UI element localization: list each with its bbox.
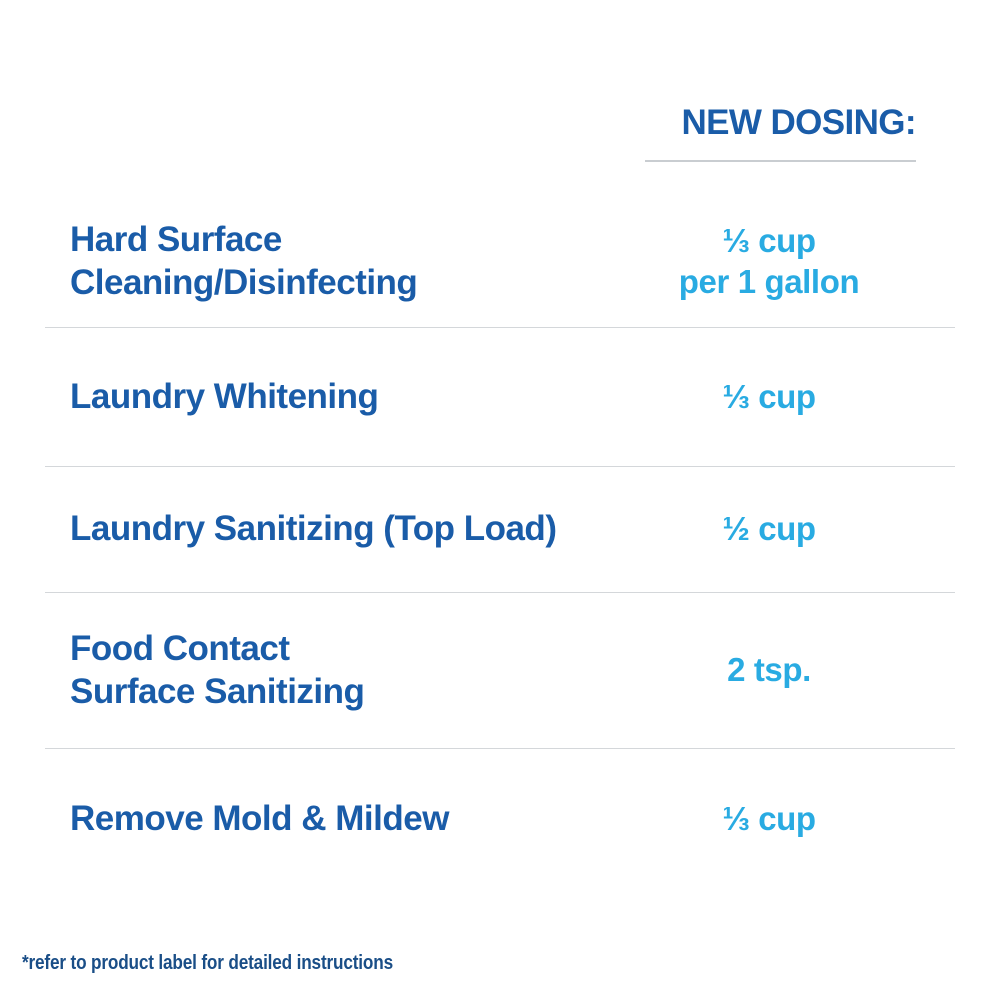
row-dose-line: per 1 gallon bbox=[620, 262, 918, 303]
row-label: Food Contact Surface Sanitizing bbox=[0, 628, 620, 713]
row-dose: ½ cup bbox=[620, 509, 1000, 550]
row-dose-line: ½ cup bbox=[620, 509, 918, 550]
row-dose: ⅓ cup bbox=[620, 377, 1000, 418]
table-row: Hard Surface Cleaning/Disinfecting ⅓ cup… bbox=[0, 196, 1000, 327]
table-row: Laundry Whitening ⅓ cup bbox=[0, 328, 1000, 466]
row-label-line: Laundry Sanitizing (Top Load) bbox=[70, 508, 620, 551]
table-row: Remove Mold & Mildew ⅓ cup bbox=[0, 749, 1000, 889]
row-dose-line: ⅓ cup bbox=[620, 377, 918, 418]
dosing-table: Hard Surface Cleaning/Disinfecting ⅓ cup… bbox=[0, 196, 1000, 889]
footnote: *refer to product label for detailed ins… bbox=[22, 952, 393, 975]
row-label-line: Surface Sanitizing bbox=[70, 671, 620, 714]
row-dose-line: 2 tsp. bbox=[620, 650, 918, 691]
row-label-line: Cleaning/Disinfecting bbox=[70, 262, 620, 305]
row-label-line: Food Contact bbox=[70, 628, 620, 671]
dosing-header: NEW DOSING: bbox=[560, 104, 916, 162]
dosing-chart: NEW DOSING: Hard Surface Cleaning/Disinf… bbox=[0, 0, 1000, 1000]
row-label: Remove Mold & Mildew bbox=[0, 798, 620, 841]
page-title: NEW DOSING: bbox=[560, 104, 916, 142]
table-row: Laundry Sanitizing (Top Load) ½ cup bbox=[0, 467, 1000, 592]
table-row: Food Contact Surface Sanitizing 2 tsp. bbox=[0, 593, 1000, 748]
row-label-line: Laundry Whitening bbox=[70, 376, 620, 419]
row-dose: ⅓ cup bbox=[620, 799, 1000, 840]
row-dose-line: ⅓ cup bbox=[620, 221, 918, 262]
row-dose: 2 tsp. bbox=[620, 650, 1000, 691]
row-label-line: Hard Surface bbox=[70, 219, 620, 262]
row-dose: ⅓ cup per 1 gallon bbox=[620, 221, 1000, 303]
row-label: Laundry Whitening bbox=[0, 376, 620, 419]
row-label: Laundry Sanitizing (Top Load) bbox=[0, 508, 620, 551]
header-underline bbox=[645, 160, 916, 162]
row-label-line: Remove Mold & Mildew bbox=[70, 798, 620, 841]
row-dose-line: ⅓ cup bbox=[620, 799, 918, 840]
row-label: Hard Surface Cleaning/Disinfecting bbox=[0, 219, 620, 304]
